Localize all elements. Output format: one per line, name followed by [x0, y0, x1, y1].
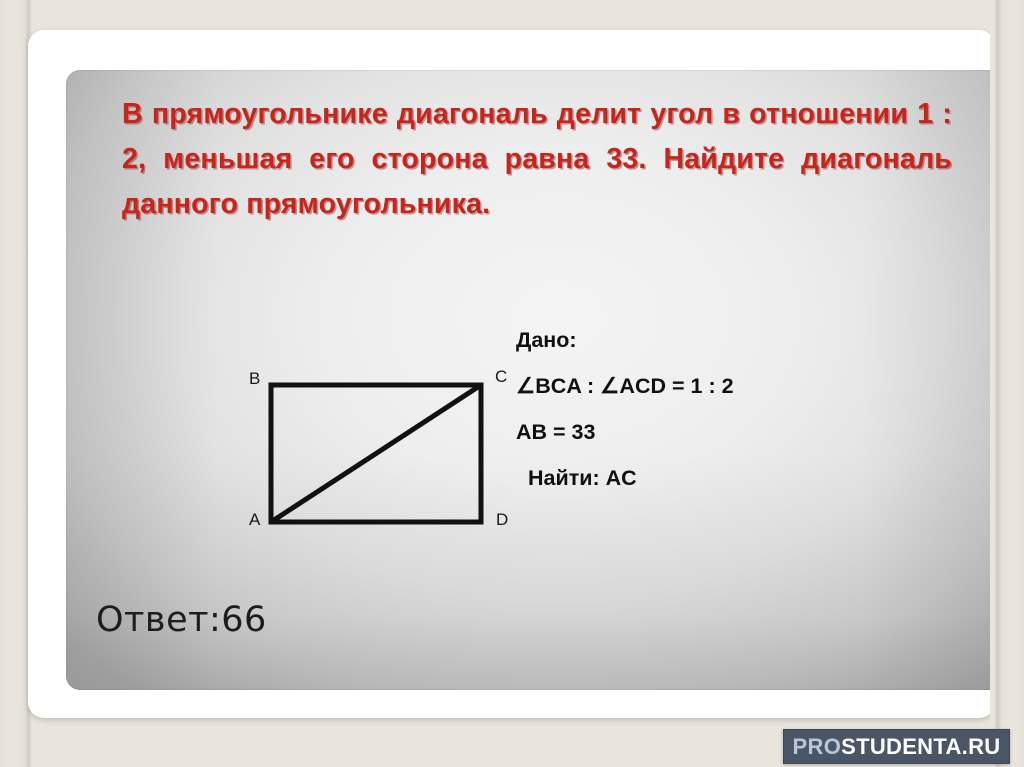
page-title: В прямоугольнике диагональ делит угол в … — [122, 92, 952, 227]
given-side-length: AB = 33 — [516, 420, 936, 445]
slide-surface: В прямоугольнике диагональ делит угол в … — [66, 70, 1013, 690]
given-block: Дано: ∠BCA : ∠ACD = 1 : 2 AB = 33 Найти:… — [516, 328, 936, 491]
given-angle-ratio: ∠BCA : ∠ACD = 1 : 2 — [516, 374, 936, 399]
given-heading: Дано: — [516, 328, 936, 353]
find-statement: Найти: AC — [516, 466, 936, 491]
site-watermark: PROSTUDENTA.RU — [783, 729, 1010, 764]
vertex-label-c: C — [495, 367, 507, 387]
watermark-suffix: STUDENTA.RU — [841, 734, 1000, 759]
diagonal-line-ac — [271, 385, 481, 522]
vertex-label-b: B — [249, 369, 260, 389]
page-background: В прямоугольнике диагональ делит угол в … — [0, 0, 1024, 767]
watermark-prefix: PRO — [793, 734, 842, 759]
answer-text: Ответ:66 — [96, 600, 267, 640]
watermark-text: PROSTUDENTA.RU — [793, 734, 1001, 760]
vertex-label-d: D — [496, 510, 508, 530]
vertex-label-a: A — [249, 510, 260, 530]
geometry-figure: B C A D — [226, 325, 546, 545]
slide-card-frame: В прямоугольнике диагональ делит угол в … — [28, 30, 995, 718]
